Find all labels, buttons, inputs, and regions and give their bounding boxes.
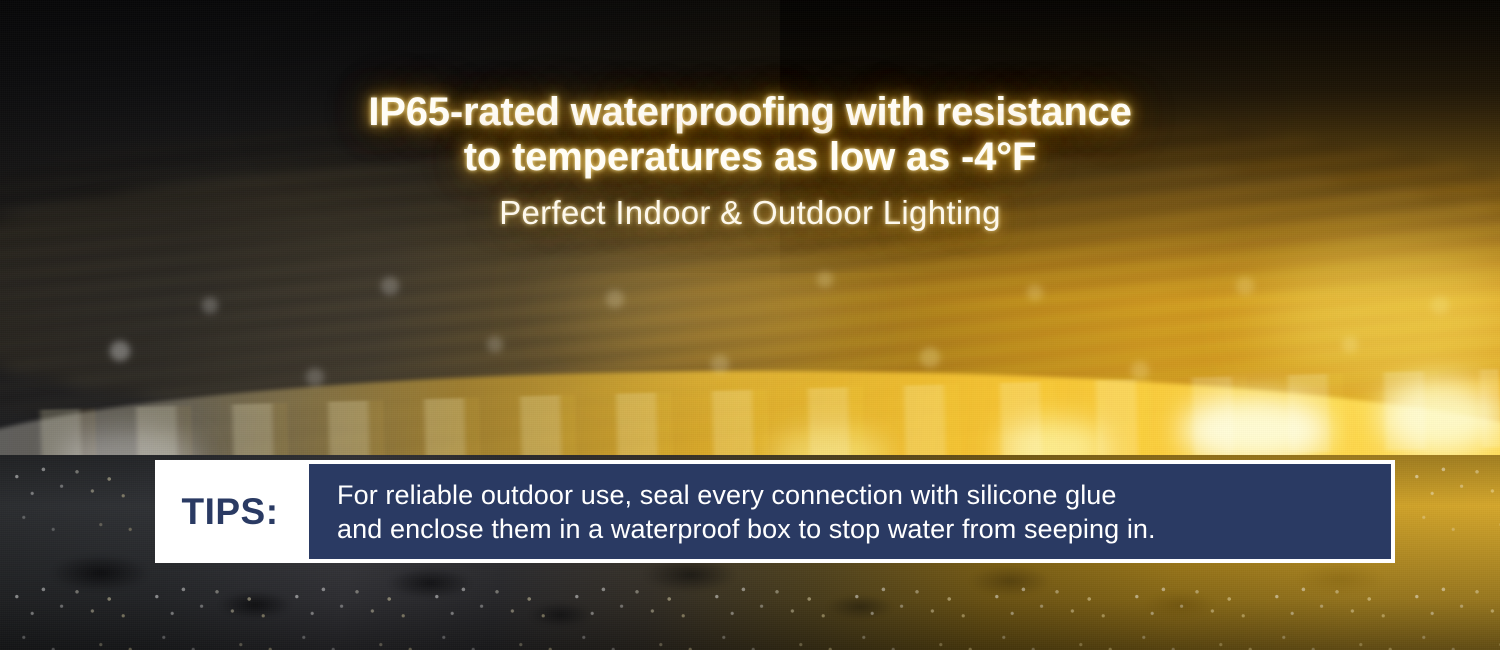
subheadline: Perfect Indoor & Outdoor Lighting bbox=[0, 194, 1500, 232]
promo-banner: IP65-rated waterproofing with resistance… bbox=[0, 0, 1500, 650]
tips-callout: TIPS: For reliable outdoor use, seal eve… bbox=[155, 460, 1395, 563]
tips-text: For reliable outdoor use, seal every con… bbox=[337, 478, 1156, 546]
tips-body: For reliable outdoor use, seal every con… bbox=[305, 460, 1395, 563]
tips-label: TIPS: bbox=[155, 460, 305, 563]
headline: IP65-rated waterproofing with resistance… bbox=[0, 90, 1500, 180]
